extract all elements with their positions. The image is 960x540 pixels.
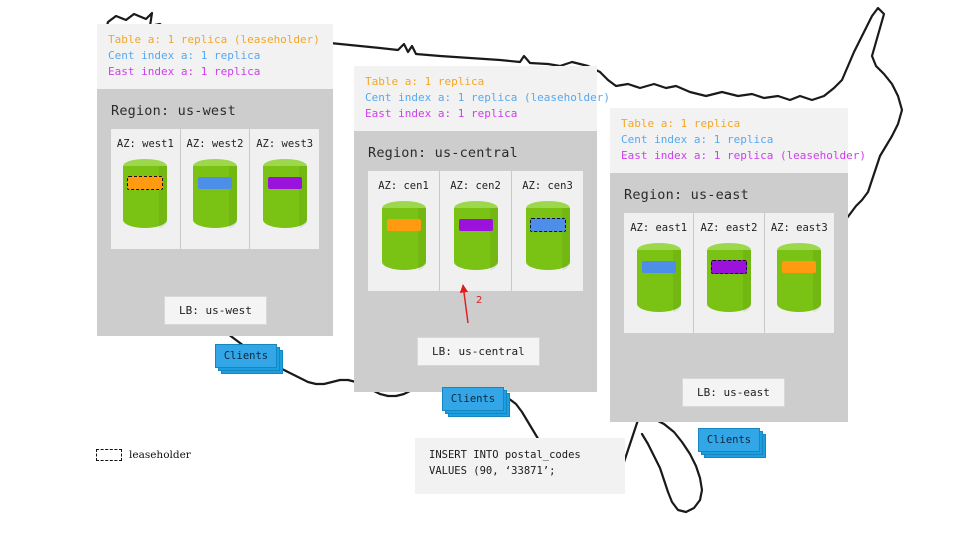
az-cell-west2[interactable]: AZ: west2 bbox=[180, 129, 250, 249]
replica-band-table bbox=[782, 261, 816, 273]
replica-band-cent-index bbox=[642, 261, 676, 273]
clients-label-us-central[interactable]: Clients bbox=[442, 387, 504, 411]
region-box-us-west: Region: us-west AZ: west1 AZ: west2 bbox=[97, 89, 333, 336]
region-group-us-west: Table a: 1 replica (leaseholder) Cent in… bbox=[97, 24, 333, 336]
replica-band-east-index-leaseholder bbox=[711, 260, 747, 274]
clients-label-us-west[interactable]: Clients bbox=[215, 344, 277, 368]
replica-band-cent-index bbox=[198, 177, 232, 189]
replica-line-table: Table a: 1 replica bbox=[621, 116, 837, 132]
az-label-east1: AZ: east1 bbox=[624, 222, 693, 234]
replica-band-east-index bbox=[459, 219, 493, 231]
az-label-west1: AZ: west1 bbox=[111, 138, 180, 150]
cylinder-body bbox=[382, 208, 426, 270]
az-cell-east1[interactable]: AZ: east1 bbox=[624, 213, 693, 333]
az-label-cen2: AZ: cen2 bbox=[440, 180, 511, 192]
load-balancer-us-west[interactable]: LB: us-west bbox=[164, 296, 267, 325]
region-title-us-central: Region: us-central bbox=[354, 131, 597, 171]
legend-label: leaseholder bbox=[129, 449, 191, 461]
az-strip-us-east: AZ: east1 AZ: east2 AZ bbox=[624, 213, 834, 333]
cylinder-body bbox=[193, 166, 237, 228]
replica-line-table: Table a: 1 replica bbox=[365, 74, 586, 90]
az-cell-cen3[interactable]: AZ: cen3 bbox=[511, 171, 583, 291]
replica-line-cent: Cent index a: 1 replica (leaseholder) bbox=[365, 90, 586, 106]
clients-stack-us-east[interactable]: Clients bbox=[698, 428, 760, 452]
load-balancer-us-east[interactable]: LB: us-east bbox=[682, 378, 785, 407]
az-strip-us-west: AZ: west1 AZ: west2 AZ bbox=[111, 129, 319, 249]
sql-statement-block: INSERT INTO postal_codes VALUES (90, ‘33… bbox=[415, 438, 625, 494]
az-label-cen3: AZ: cen3 bbox=[512, 180, 583, 192]
node-cylinder-cen1[interactable] bbox=[382, 201, 426, 277]
az-cell-west3[interactable]: AZ: west3 bbox=[249, 129, 319, 249]
az-label-west3: AZ: west3 bbox=[250, 138, 319, 150]
region-title-us-east: Region: us-east bbox=[610, 173, 848, 213]
replica-summary-us-west: Table a: 1 replica (leaseholder) Cent in… bbox=[97, 24, 333, 89]
load-balancer-us-central[interactable]: LB: us-central bbox=[417, 337, 540, 366]
node-cylinder-cen2[interactable] bbox=[454, 201, 498, 277]
az-cell-cen2[interactable]: AZ: cen2 bbox=[439, 171, 511, 291]
az-cell-east2[interactable]: AZ: east2 bbox=[693, 213, 763, 333]
az-label-west2: AZ: west2 bbox=[181, 138, 250, 150]
replica-band-cent-index-leaseholder bbox=[530, 218, 566, 232]
node-cylinder-east1[interactable] bbox=[637, 243, 681, 319]
region-box-us-central: Region: us-central AZ: cen1 AZ: cen2 bbox=[354, 131, 597, 392]
node-cylinder-east3[interactable] bbox=[777, 243, 821, 319]
replica-line-east: East index a: 1 replica (leaseholder) bbox=[621, 148, 837, 164]
az-cell-west1[interactable]: AZ: west1 bbox=[111, 129, 180, 249]
cylinder-body bbox=[637, 250, 681, 312]
replica-band-east-index bbox=[268, 177, 302, 189]
replica-line-east: East index a: 1 replica bbox=[108, 64, 322, 80]
az-label-east3: AZ: east3 bbox=[765, 222, 834, 234]
diagram-canvas: Table a: 1 replica (leaseholder) Cent in… bbox=[0, 0, 960, 540]
az-strip-us-central: AZ: cen1 AZ: cen2 AZ: bbox=[368, 171, 583, 291]
dashed-rectangle-icon bbox=[96, 449, 122, 461]
cylinder-body bbox=[777, 250, 821, 312]
region-title-us-west: Region: us-west bbox=[97, 89, 333, 129]
node-cylinder-west2[interactable] bbox=[193, 159, 237, 235]
legend-leaseholder: leaseholder bbox=[96, 449, 191, 461]
cylinder-body bbox=[263, 166, 307, 228]
replica-band-table bbox=[387, 219, 421, 231]
node-cylinder-west3[interactable] bbox=[263, 159, 307, 235]
az-label-cen1: AZ: cen1 bbox=[368, 180, 439, 192]
region-box-us-east: Region: us-east AZ: east1 AZ: east2 bbox=[610, 173, 848, 422]
replica-line-cent: Cent index a: 1 replica bbox=[108, 48, 322, 64]
replica-band-table-leaseholder bbox=[127, 176, 163, 190]
step-arrow-2-label: 2 bbox=[476, 295, 482, 306]
clients-stack-us-central[interactable]: Clients bbox=[442, 387, 504, 411]
replica-line-east: East index a: 1 replica bbox=[365, 106, 586, 122]
clients-stack-us-west[interactable]: Clients bbox=[215, 344, 277, 368]
region-group-us-east: Table a: 1 replica Cent index a: 1 repli… bbox=[610, 108, 848, 422]
az-cell-cen1[interactable]: AZ: cen1 bbox=[368, 171, 439, 291]
replica-line-cent: Cent index a: 1 replica bbox=[621, 132, 837, 148]
replica-summary-us-east: Table a: 1 replica Cent index a: 1 repli… bbox=[610, 108, 848, 173]
az-cell-east3[interactable]: AZ: east3 bbox=[764, 213, 834, 333]
region-group-us-central: Table a: 1 replica Cent index a: 1 repli… bbox=[354, 66, 597, 392]
clients-label-us-east[interactable]: Clients bbox=[698, 428, 760, 452]
cylinder-body bbox=[454, 208, 498, 270]
replica-line-table: Table a: 1 replica (leaseholder) bbox=[108, 32, 322, 48]
node-cylinder-west1[interactable] bbox=[123, 159, 167, 235]
florida-peninsula-path bbox=[640, 414, 702, 512]
node-cylinder-east2[interactable] bbox=[707, 243, 751, 319]
node-cylinder-cen3[interactable] bbox=[526, 201, 570, 277]
az-label-east2: AZ: east2 bbox=[694, 222, 763, 234]
replica-summary-us-central: Table a: 1 replica Cent index a: 1 repli… bbox=[354, 66, 597, 131]
